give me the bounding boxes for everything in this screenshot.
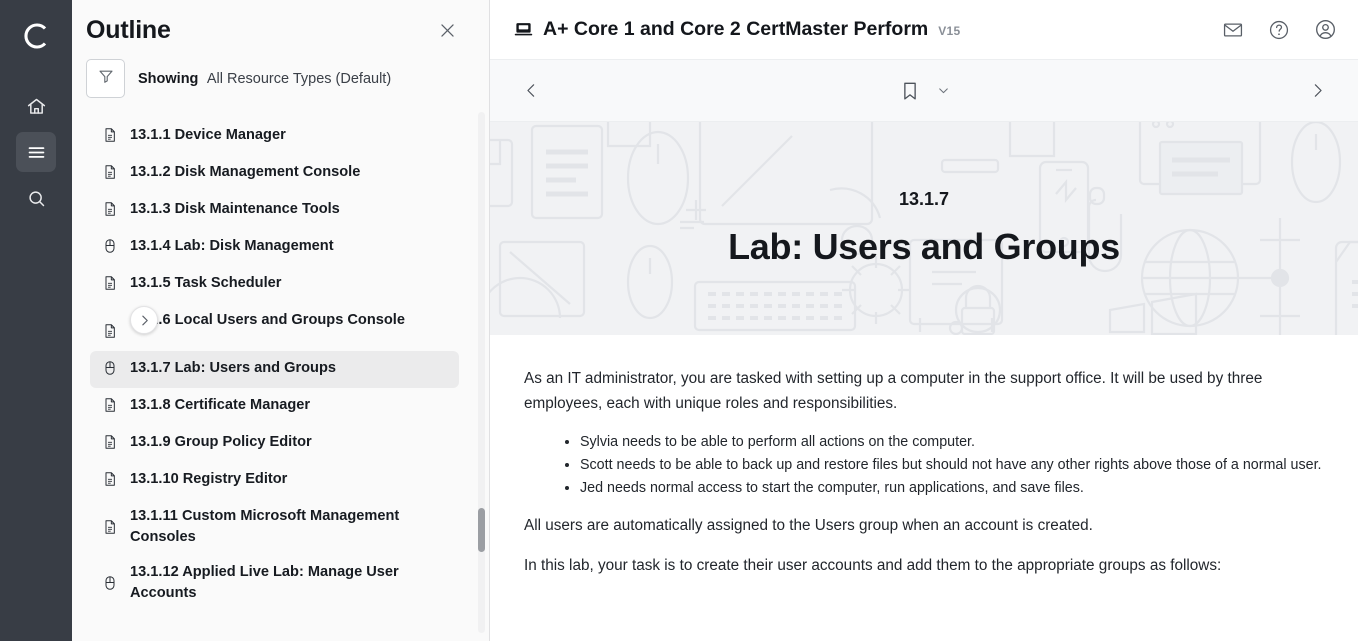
intro-paragraph: As an IT administrator, you are tasked w… bbox=[524, 367, 1329, 417]
panel-collapse-handle[interactable] bbox=[130, 306, 158, 334]
outline-item[interactable]: 13.1.7 Lab: Users and Groups bbox=[90, 351, 459, 388]
outline-item[interactable]: 13.1.5 Task Scheduler bbox=[90, 266, 459, 303]
app-root: Outline Showing All Resource Types (Defa… bbox=[0, 0, 1358, 641]
document-icon bbox=[102, 469, 118, 492]
outline-item-label: 13.1.5 Task Scheduler bbox=[130, 273, 281, 294]
filter-row: Showing All Resource Types (Default) bbox=[72, 49, 489, 112]
list-item: Scott needs to be able to back up and re… bbox=[580, 455, 1334, 476]
help-icon[interactable] bbox=[1264, 15, 1294, 45]
chevron-down-icon[interactable] bbox=[937, 84, 950, 97]
previous-page-button[interactable] bbox=[514, 74, 548, 108]
bookmark-icon[interactable] bbox=[899, 80, 921, 102]
list-item: Jed needs normal access to start the com… bbox=[580, 478, 1334, 499]
outline-title: Outline bbox=[86, 16, 171, 45]
outline-item-label: 13.1.9 Group Policy Editor bbox=[130, 432, 312, 453]
outline-item-label: 13.1.10 Registry Editor bbox=[130, 469, 287, 490]
lesson-banner: 13.1.7 Lab: Users and Groups bbox=[490, 122, 1358, 335]
document-icon bbox=[102, 432, 118, 455]
course-identity: A+ Core 1 and Core 2 CertMaster Perform … bbox=[514, 18, 961, 41]
filter-status: Showing All Resource Types (Default) bbox=[138, 70, 391, 88]
outline-panel: Outline Showing All Resource Types (Defa… bbox=[72, 0, 490, 641]
filter-button[interactable] bbox=[86, 59, 125, 98]
mail-icon[interactable] bbox=[1218, 15, 1248, 45]
outline-item[interactable]: 13.1.8 Certificate Manager bbox=[90, 388, 459, 425]
requirements-list: Sylvia needs to be able to perform all a… bbox=[580, 432, 1334, 500]
outline-item-label: 13.1.6 Local Users and Groups Console bbox=[130, 310, 405, 331]
showing-value[interactable]: All Resource Types (Default) bbox=[207, 71, 391, 87]
lesson-number: 13.1.7 bbox=[899, 189, 949, 210]
outline-item[interactable]: 13.1.3 Disk Maintenance Tools bbox=[90, 192, 459, 229]
bookmark-group bbox=[490, 80, 1358, 102]
outline-item-label: 13.1.7 Lab: Users and Groups bbox=[130, 358, 336, 379]
outline-item-label: 13.1.4 Lab: Disk Management bbox=[130, 236, 334, 257]
comptia-c-logo[interactable] bbox=[12, 12, 60, 60]
mouse-icon bbox=[102, 562, 118, 596]
outline-item[interactable]: 13.1.10 Registry Editor bbox=[90, 462, 459, 499]
page-navigation-bar bbox=[490, 59, 1358, 122]
outline-item-label: 13.1.3 Disk Maintenance Tools bbox=[130, 199, 340, 220]
document-icon bbox=[102, 162, 118, 185]
note-paragraph: All users are automatically assigned to … bbox=[524, 514, 1329, 539]
outline-item[interactable]: 13.1.4 Lab: Disk Management bbox=[90, 229, 459, 266]
list-item: Sylvia needs to be able to perform all a… bbox=[580, 432, 1334, 453]
outline-scrollbar-track[interactable] bbox=[478, 112, 485, 633]
next-page-button[interactable] bbox=[1300, 74, 1334, 108]
main-content: A+ Core 1 and Core 2 CertMaster Perform … bbox=[490, 0, 1358, 641]
document-icon bbox=[102, 125, 118, 148]
showing-label: Showing bbox=[138, 71, 198, 87]
book-icon bbox=[514, 20, 533, 39]
rail-item-outline[interactable] bbox=[16, 132, 56, 172]
rail-item-search[interactable] bbox=[16, 178, 56, 218]
document-icon bbox=[102, 395, 118, 418]
account-icon[interactable] bbox=[1310, 15, 1340, 45]
outline-item-label: 13.1.2 Disk Management Console bbox=[130, 162, 360, 183]
outline-item-label: 13.1.1 Device Manager bbox=[130, 125, 286, 146]
outline-list: 13.1.1 Device Manager13.1.2 Disk Managem… bbox=[72, 112, 489, 641]
document-icon bbox=[102, 506, 118, 540]
course-header: A+ Core 1 and Core 2 CertMaster Perform … bbox=[490, 0, 1358, 59]
lesson-title: Lab: Users and Groups bbox=[728, 226, 1120, 268]
outline-item[interactable]: 13.1.2 Disk Management Console bbox=[90, 155, 459, 192]
document-icon bbox=[102, 199, 118, 222]
outline-item-label: 13.1.8 Certificate Manager bbox=[130, 395, 310, 416]
outline-item[interactable]: 13.1.9 Group Policy Editor bbox=[90, 425, 459, 462]
mouse-icon bbox=[102, 236, 118, 259]
outline-scrollbar-thumb[interactable] bbox=[478, 508, 485, 552]
course-version-badge: V15 bbox=[938, 24, 960, 38]
close-icon[interactable] bbox=[433, 17, 461, 45]
mouse-icon bbox=[102, 358, 118, 381]
outline-item-label: 13.1.12 Applied Live Lab: Manage User Ac… bbox=[130, 562, 449, 604]
header-actions bbox=[1218, 15, 1340, 45]
outline-item-label: 13.1.11 Custom Microsoft Management Cons… bbox=[130, 506, 449, 548]
outline-header: Outline bbox=[72, 0, 489, 49]
outline-item[interactable]: 13.1.1 Device Manager bbox=[90, 118, 459, 155]
document-icon bbox=[102, 273, 118, 296]
task-paragraph: In this lab, your task is to create thei… bbox=[524, 554, 1329, 579]
page-title: A+ Core 1 and Core 2 CertMaster Perform bbox=[543, 18, 928, 41]
rail-nav-group bbox=[16, 86, 56, 218]
outline-item[interactable]: 13.1.12 Applied Live Lab: Manage User Ac… bbox=[90, 555, 459, 611]
left-icon-rail bbox=[0, 0, 72, 641]
document-icon bbox=[102, 310, 118, 344]
funnel-icon bbox=[97, 67, 115, 90]
rail-item-home[interactable] bbox=[16, 86, 56, 126]
lesson-body: As an IT administrator, you are tasked w… bbox=[490, 335, 1358, 641]
outline-item[interactable]: 13.1.11 Custom Microsoft Management Cons… bbox=[90, 499, 459, 555]
